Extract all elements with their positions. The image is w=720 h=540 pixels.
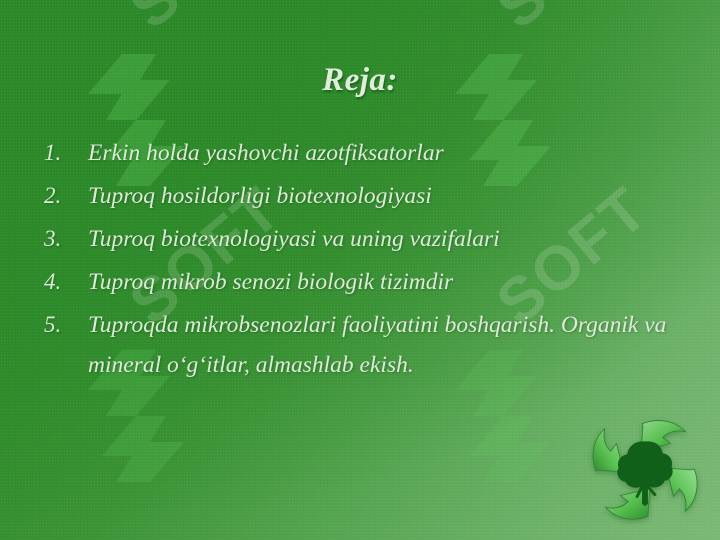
list-item-text: Tuproq hosildorligi biotexnologiyasi <box>88 176 432 216</box>
list-item: 5. Tuproqda mikrobsenozlari faoliyatini … <box>44 305 684 385</box>
list-item: 2. Tuproq hosildorligi biotexnologiyasi <box>44 176 684 216</box>
list-item-number: 2. <box>44 176 88 216</box>
list-item-text: Tuproqda mikrobsenozlari faoliyatini bos… <box>88 305 668 385</box>
list-item-text: Tuproq mikrob senozi biologik tizimdir <box>88 262 453 302</box>
list-item-number: 1. <box>44 133 88 173</box>
list-item-number: 5. <box>44 305 88 345</box>
watermark-text: SOFT <box>483 0 661 43</box>
agenda-list: 1. Erkin holda yashovchi azotfiksatorlar… <box>44 133 684 388</box>
list-item: 1. Erkin holda yashovchi azotfiksatorlar <box>44 133 684 173</box>
list-item-number: 4. <box>44 262 88 302</box>
list-item-number: 3. <box>44 219 88 259</box>
watermark-text: SOFT <box>116 0 294 43</box>
list-item-text: Tuproq biotexnologiyasi va uning vazifal… <box>88 219 500 259</box>
list-item: 4. Tuproq mikrob senozi biologik tizimdi… <box>44 262 684 302</box>
recycle-tree-emblem <box>586 414 704 526</box>
list-item-text: Erkin holda yashovchi azotfiksatorlar <box>88 133 444 173</box>
page-title: Reja: <box>0 62 720 99</box>
presentation-slide: SOFT SOFT SOFT SOFT Reja: 1. Erkin h <box>0 0 720 540</box>
list-item: 3. Tuproq biotexnologiyasi va uning vazi… <box>44 219 684 259</box>
